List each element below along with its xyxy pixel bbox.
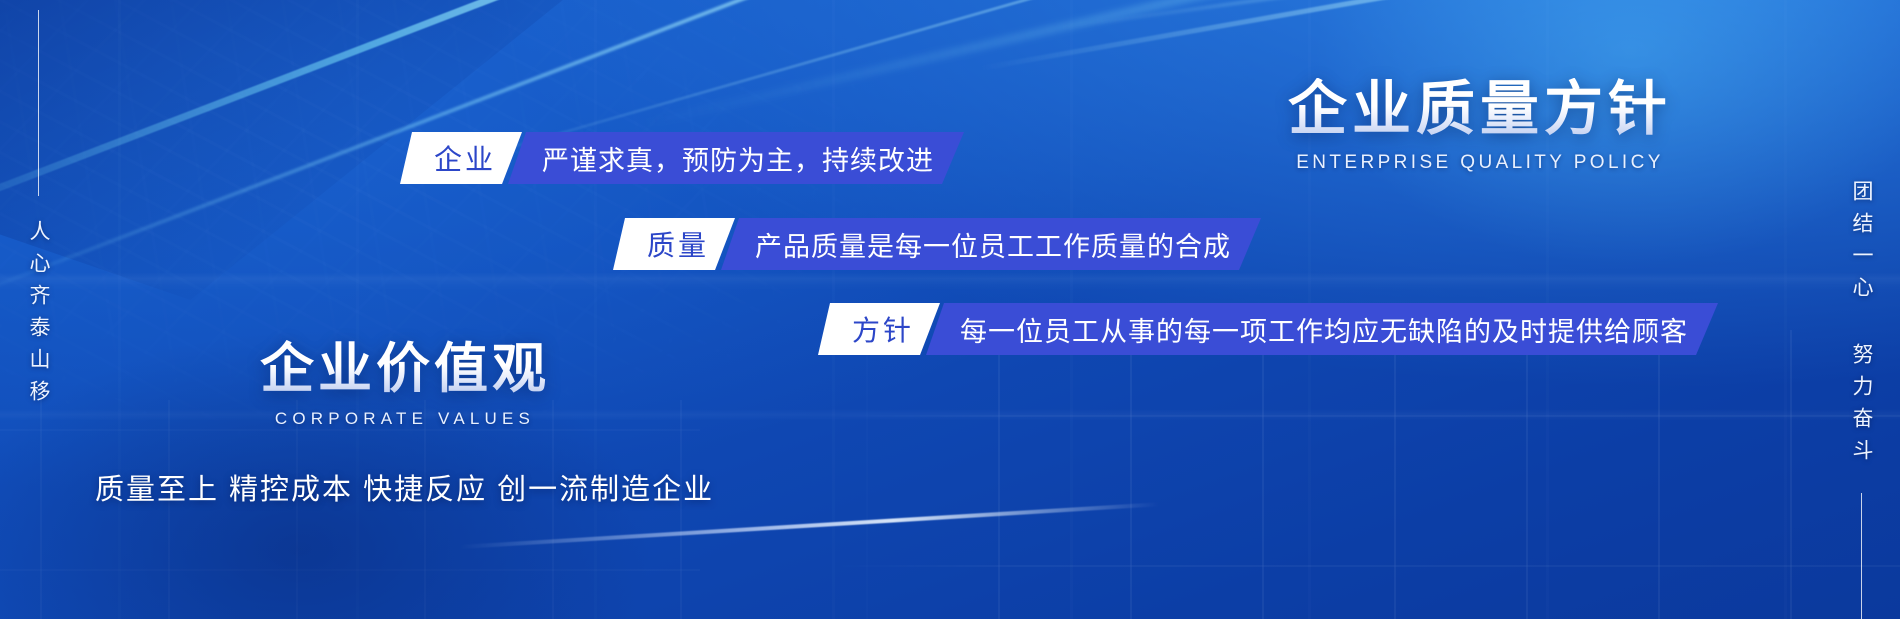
left-vertical-text: 人心齐泰山移 (28, 220, 49, 412)
tag-body-policy: 每一位员工从事的每一项工作均应无缺陷的及时提供给顾客 (926, 303, 1718, 355)
tag-label-policy: 方针 (818, 303, 940, 355)
tag-body-quality: 产品质量是每一位员工工作质量的合成 (721, 218, 1261, 270)
background-windows-left (0, 400, 700, 619)
left-side-decoration: 人心齐泰山移 (28, 10, 49, 412)
right-vertical-text: 团结一心 努力奋斗 (1851, 180, 1872, 471)
policy-heading-block: 企业质量方针 ENTERPRISE QUALITY POLICY (1265, 78, 1695, 174)
tag-body-text: 严谨求真，预防为主，持续改进 (542, 139, 934, 178)
right-side-decoration: 团结一心 努力奋斗 (1851, 180, 1872, 619)
banner-stage: 人心齐泰山移 团结一心 努力奋斗 企业质量方针 ENTERPRISE QUALI… (0, 0, 1900, 619)
policy-title-cn: 企业质量方针 (1265, 78, 1695, 141)
tag-body-enterprise: 严谨求真，预防为主，持续改进 (508, 132, 964, 184)
values-title-en: CORPORATE VALUES (235, 409, 575, 429)
vertical-rule-left (38, 10, 39, 196)
background-windows-right (820, 330, 1900, 619)
tag-label-text: 企业 (434, 138, 496, 178)
tag-row: 方针 每一位员工从事的每一项工作均应无缺陷的及时提供给顾客 (818, 303, 1718, 355)
tag-body-text: 每一位员工从事的每一项工作均应无缺陷的及时提供给顾客 (960, 310, 1688, 349)
values-title-cn: 企业价值观 (235, 340, 575, 397)
light-streak-icon (460, 502, 1159, 549)
tag-pointer-icon (896, 184, 918, 194)
tag-pointer-icon (641, 270, 659, 281)
values-heading-block: 企业价值观 CORPORATE VALUES (235, 340, 575, 429)
tag-pointer-icon (1650, 355, 1672, 365)
light-streak-icon (1060, 0, 1900, 30)
tag-pointer-icon (846, 355, 864, 366)
tag-row: 企业 严谨求真，预防为主，持续改进 (400, 132, 964, 184)
policy-title-en: ENTERPRISE QUALITY POLICY (1265, 152, 1695, 174)
tag-pointer-icon (428, 184, 446, 195)
light-streak-icon (0, 0, 1114, 237)
tag-label-text: 方针 (852, 309, 914, 349)
tag-label-enterprise: 企业 (400, 132, 522, 184)
tag-row: 质量 产品质量是每一位员工工作质量的合成 (613, 218, 1261, 270)
vertical-rule-right (1861, 493, 1862, 619)
light-streak-icon (980, 0, 1900, 71)
values-tagline: 质量至上 精控成本 快捷反应 创一流制造企业 (95, 466, 714, 508)
tag-body-text: 产品质量是每一位员工工作质量的合成 (755, 225, 1231, 264)
tag-label-text: 质量 (647, 224, 709, 264)
tag-label-quality: 质量 (613, 218, 735, 270)
tag-pointer-icon (1193, 270, 1215, 280)
